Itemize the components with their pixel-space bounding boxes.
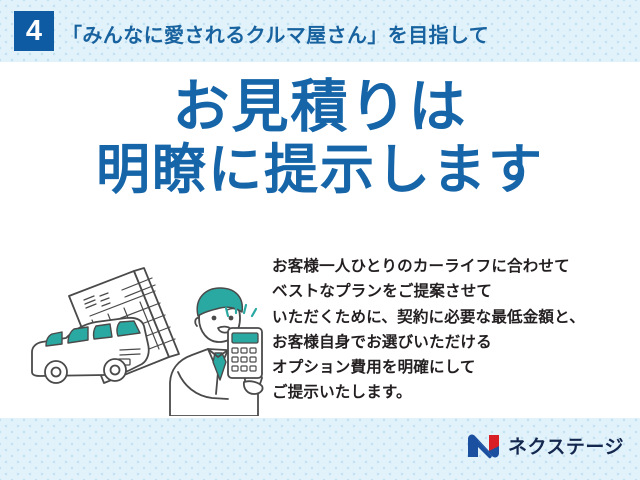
content-panel: お見積りは 明瞭に提示します お客様一人ひとりのカーライフに合わせて ベストなプ… [0,62,640,418]
header-bar: 4 「みんなに愛されるクルマ屋さん」を目指して [0,0,640,62]
body-copy-line-1: お客様一人ひとりのカーライフに合わせて [272,254,585,279]
headline-line-1: お見積りは [0,76,640,140]
section-number-badge: 4 [14,11,54,51]
header-title: 「みんなに愛されるクルマ屋さん」を目指して [62,19,489,48]
body-copy-line-6: ご提示いたします。 [272,380,585,405]
nextage-n-logo-icon [467,433,501,459]
body-copy-line-4: お客様自身でお選びいただける [272,330,585,355]
headline: お見積りは 明瞭に提示します [0,76,640,200]
headline-line-2: 明瞭に提示します [0,140,640,200]
van-icon [32,318,149,383]
nextage-logo: ネクステージ [467,432,624,459]
promo-slide: 4 「みんなに愛されるクルマ屋さん」を目指して お見積りは 明瞭に提示します お… [0,0,640,480]
footer-bar: ネクステージ [0,418,640,480]
body-copy-line-2: ベストなプランをご提案させて [272,279,585,304]
nextage-logo-text: ネクステージ [508,432,624,459]
body-copy-line-3: いただくために、契約に必要な最低金額と、 [272,305,585,330]
body-copy: お客様一人ひとりのカーライフに合わせて ベストなプランをご提案させて いただくた… [272,254,585,406]
illustration-salesman-quote-van [22,254,272,416]
calculator-icon [228,328,262,378]
body-copy-line-5: オプション費用を明確にして [272,355,585,380]
illustration-svg [22,254,272,416]
